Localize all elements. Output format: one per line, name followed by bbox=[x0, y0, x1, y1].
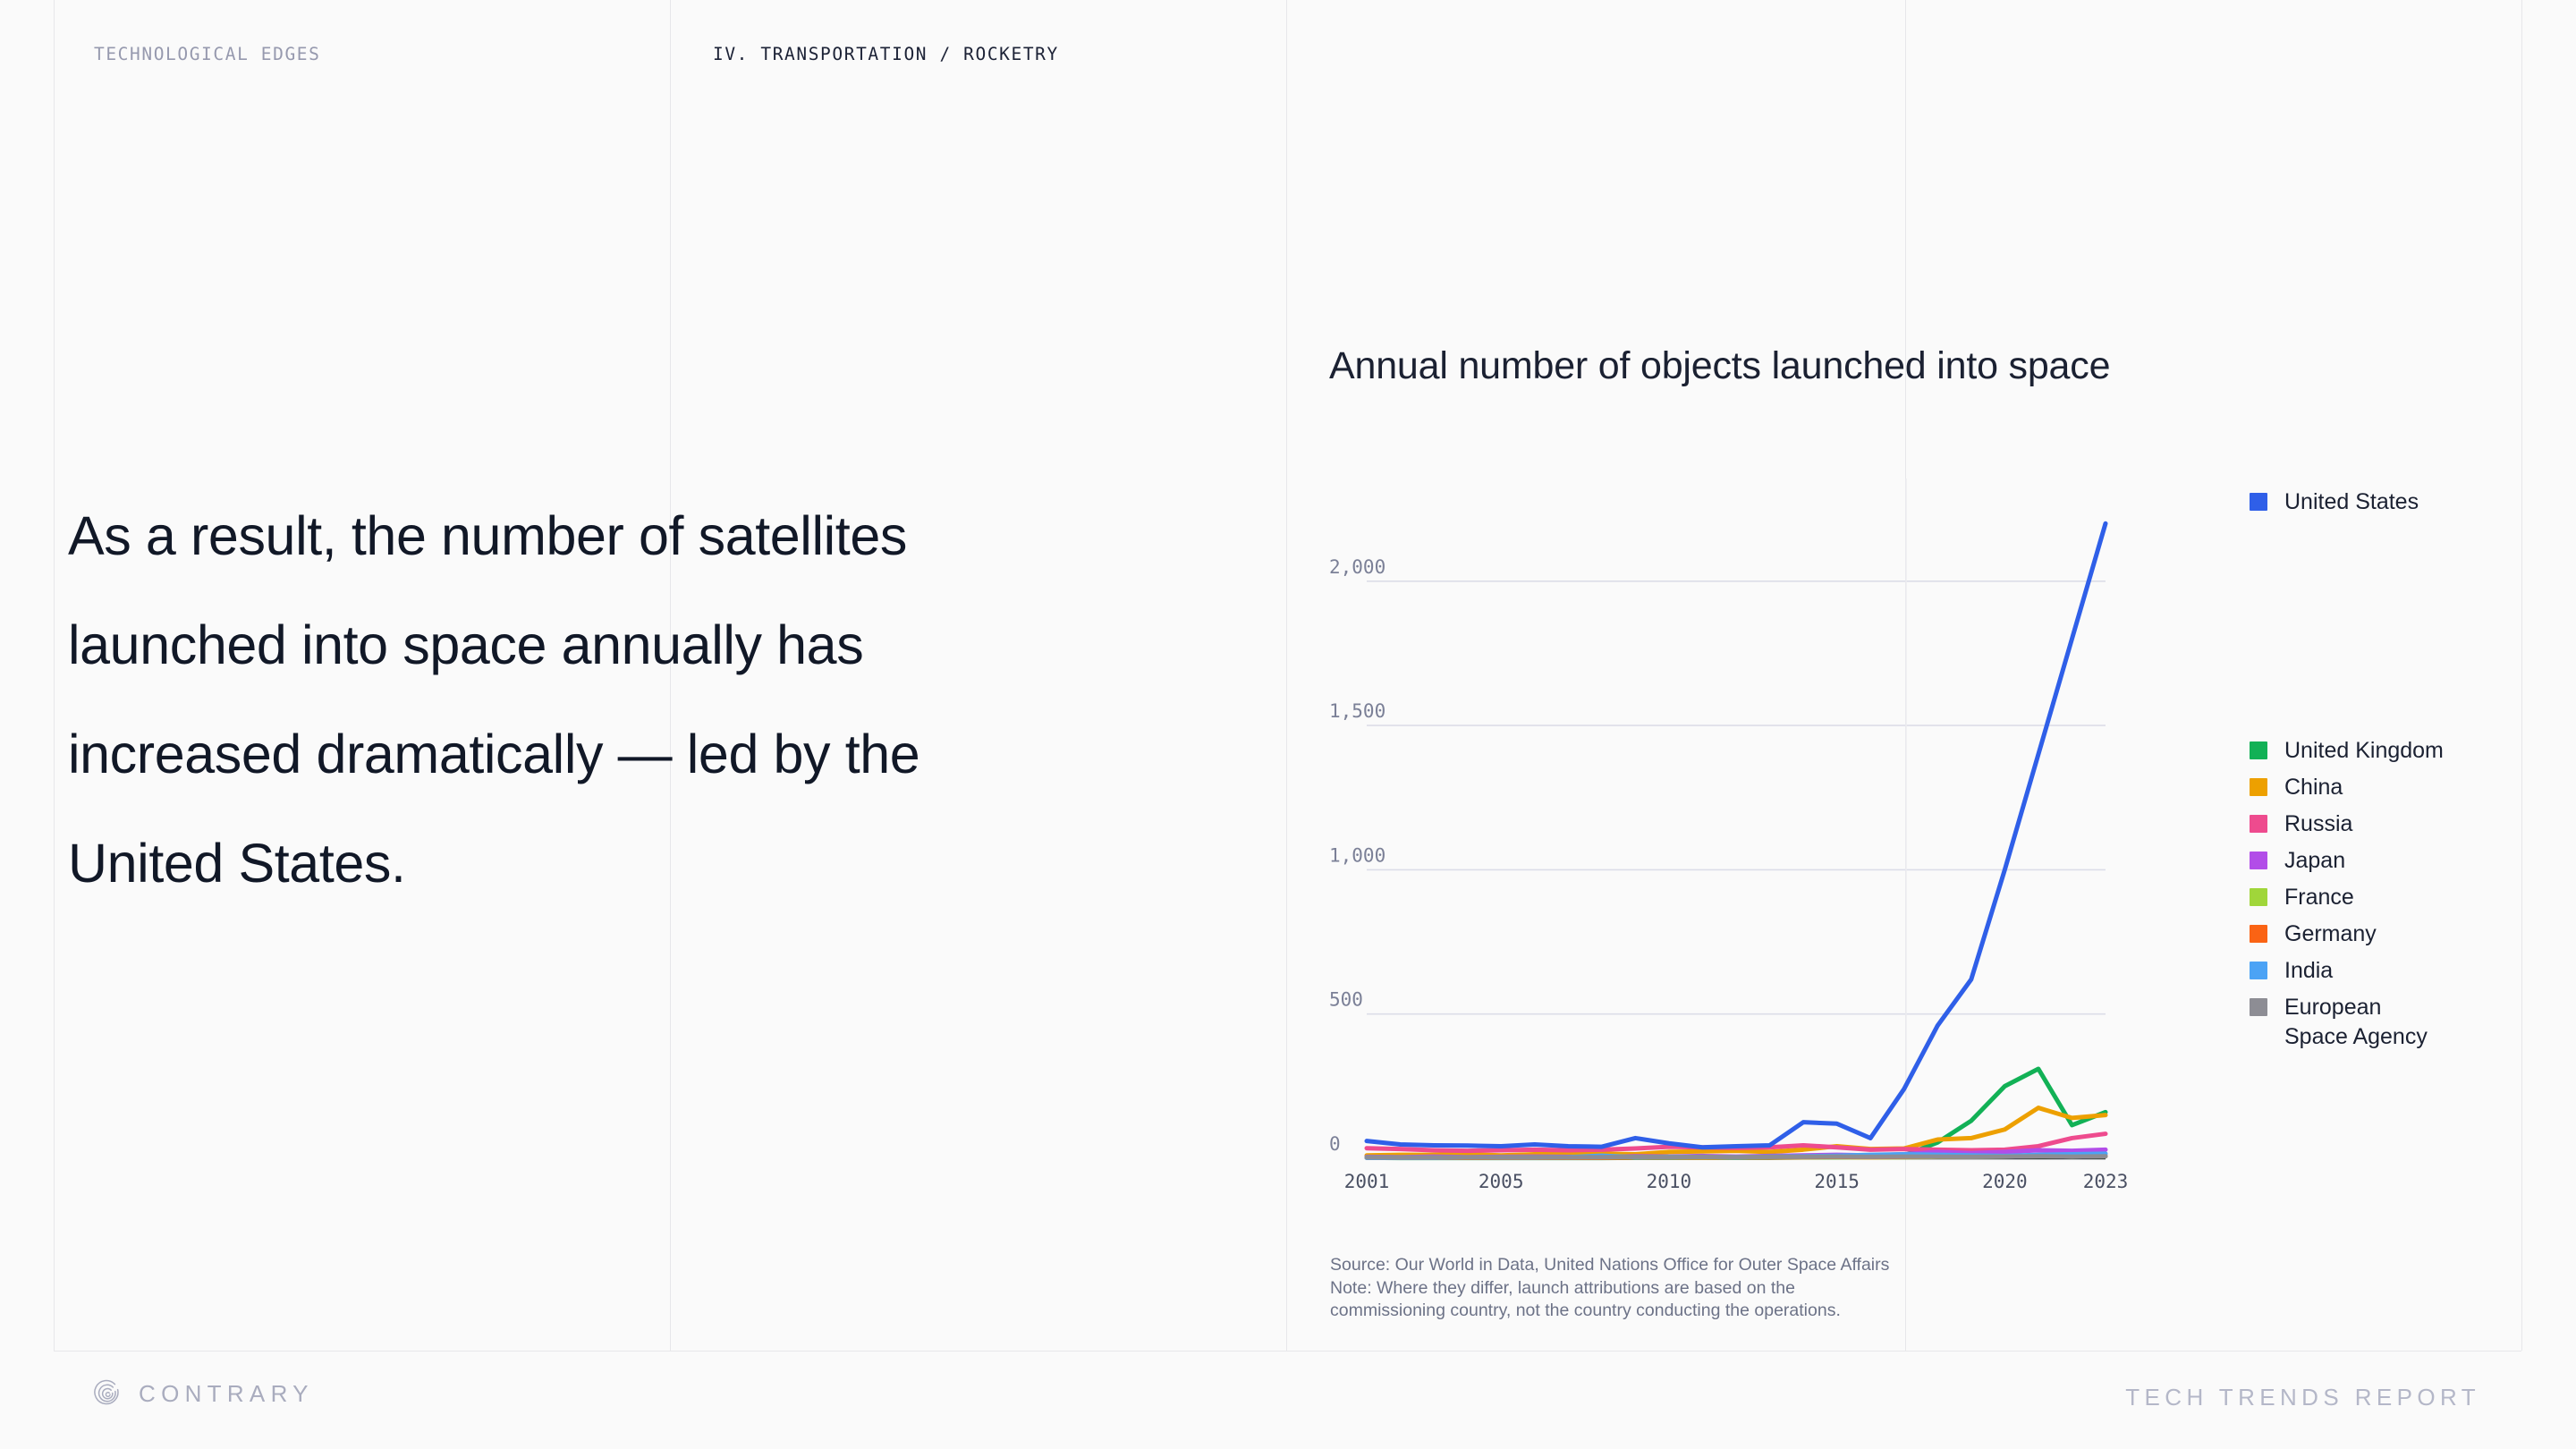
legend-label: United States bbox=[2284, 487, 2419, 517]
legend-item-russia[interactable]: Russia bbox=[2250, 809, 2554, 839]
legend-item-india[interactable]: India bbox=[2250, 956, 2554, 986]
y-axis-tick-label: 1,000 bbox=[1329, 844, 1385, 866]
page-title: As a result, the number of satellites la… bbox=[68, 481, 971, 918]
legend-swatch-icon bbox=[2250, 962, 2267, 979]
chart-source-note: Source: Our World in Data, United Nation… bbox=[1330, 1254, 1974, 1323]
legend-swatch-icon bbox=[2250, 741, 2267, 759]
legend-label: Russia bbox=[2284, 809, 2352, 839]
slide-root: TECHNOLOGICAL EDGES IV. TRANSPORTATION /… bbox=[0, 0, 2576, 1449]
source-line: Source: Our World in Data, United Nation… bbox=[1330, 1254, 1974, 1277]
x-axis-tick-label: 2023 bbox=[2083, 1171, 2129, 1192]
footer-report-label: TECH TRENDS REPORT bbox=[2125, 1384, 2480, 1411]
footer-brand[interactable]: CONTRARY bbox=[93, 1378, 314, 1409]
legend-swatch-icon bbox=[2250, 888, 2267, 906]
x-axis-tick-label: 2005 bbox=[1479, 1171, 1524, 1192]
legend-label: India bbox=[2284, 956, 2333, 986]
column-rule-1 bbox=[54, 0, 55, 1351]
legend-label: United Kingdom bbox=[2284, 736, 2444, 766]
legend-swatch-icon bbox=[2250, 778, 2267, 796]
chart-legend: United StatesUnited KingdomChinaRussiaJa… bbox=[2250, 487, 2554, 1059]
legend-item-united-kingdom[interactable]: United Kingdom bbox=[2250, 736, 2554, 766]
eyebrow-chapter-label: IV. TRANSPORTATION / ROCKETRY bbox=[713, 44, 1059, 64]
legend-item-germany[interactable]: Germany bbox=[2250, 919, 2554, 949]
legend-spacer bbox=[2250, 524, 2554, 736]
legend-label: Japan bbox=[2284, 846, 2345, 876]
legend-swatch-icon bbox=[2250, 925, 2267, 943]
legend-label: European Space Agency bbox=[2284, 993, 2428, 1052]
legend-label: France bbox=[2284, 883, 2354, 912]
x-axis-tick-label: 2015 bbox=[1814, 1171, 1860, 1192]
chart-title: Annual number of objects launched into s… bbox=[1329, 344, 2474, 388]
y-axis-tick-label: 500 bbox=[1329, 989, 1363, 1011]
legend-item-united-states[interactable]: United States bbox=[2250, 487, 2554, 517]
legend-swatch-icon bbox=[2250, 998, 2267, 1016]
contrary-spiral-icon bbox=[93, 1378, 123, 1409]
legend-item-china[interactable]: China bbox=[2250, 773, 2554, 802]
legend-item-japan[interactable]: Japan bbox=[2250, 846, 2554, 876]
legend-label: China bbox=[2284, 773, 2343, 802]
x-axis-tick-label: 2001 bbox=[1344, 1171, 1390, 1192]
legend-swatch-icon bbox=[2250, 815, 2267, 833]
brand-wordmark: CONTRARY bbox=[139, 1380, 314, 1408]
legend-swatch-icon bbox=[2250, 852, 2267, 869]
footer-divider bbox=[54, 1351, 2521, 1352]
eyebrow-section-label: TECHNOLOGICAL EDGES bbox=[94, 44, 320, 64]
legend-label: Germany bbox=[2284, 919, 2377, 949]
series-line-european-space-agency bbox=[1367, 1157, 2106, 1157]
legend-swatch-icon bbox=[2250, 493, 2267, 511]
y-axis-tick-label: 2,000 bbox=[1329, 556, 1385, 578]
y-axis-tick-label: 1,500 bbox=[1329, 700, 1385, 722]
legend-item-france[interactable]: France bbox=[2250, 883, 2554, 912]
x-axis-tick-label: 2010 bbox=[1647, 1171, 1692, 1192]
y-axis-tick-label: 0 bbox=[1329, 1133, 1341, 1155]
column-rule-3 bbox=[1286, 0, 1287, 1351]
note-line-2: commissioning country, not the country c… bbox=[1330, 1300, 1974, 1323]
note-line-1: Note: Where they differ, launch attribut… bbox=[1330, 1277, 1974, 1301]
x-axis-tick-label: 2020 bbox=[1982, 1171, 2028, 1192]
series-line-united-states bbox=[1367, 523, 2106, 1147]
legend-item-european-space-agency[interactable]: European Space Agency bbox=[2250, 993, 2554, 1052]
